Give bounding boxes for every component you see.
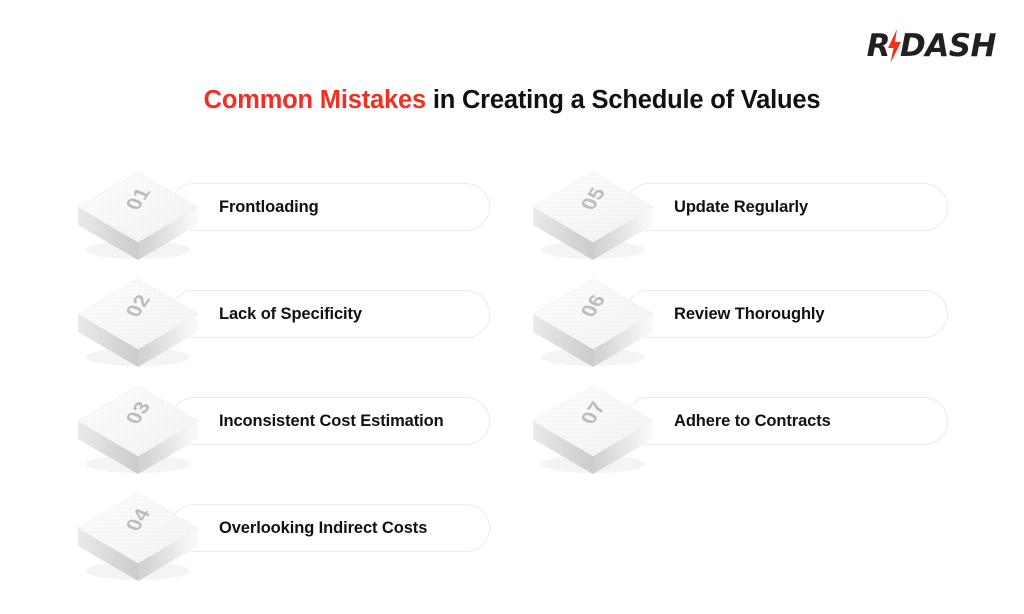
- item-label: Update Regularly: [674, 198, 808, 217]
- number-cube-icon: [529, 380, 659, 476]
- item-label: Frontloading: [219, 198, 319, 217]
- list-item[interactable]: Adhere to Contracts 07: [529, 380, 948, 487]
- number-cube-icon: [74, 380, 204, 476]
- page-title-rest: in Creating a Schedule of Values: [426, 86, 820, 114]
- list-item[interactable]: Lack of Specificity 02: [74, 273, 490, 380]
- item-pill[interactable]: Adhere to Contracts: [625, 397, 948, 445]
- number-cube-icon: [74, 487, 204, 583]
- item-pill[interactable]: Overlooking Indirect Costs: [170, 504, 490, 552]
- item-pill[interactable]: Update Regularly: [625, 183, 948, 231]
- item-pill[interactable]: Frontloading: [170, 183, 490, 231]
- number-cube-icon: [74, 273, 204, 369]
- item-label: Lack of Specificity: [219, 305, 362, 324]
- right-column: Update Regularly 05 Review Thoroughly: [529, 166, 948, 487]
- item-label: Inconsistent Cost Estimation: [219, 412, 444, 431]
- logo-text-dash: DASH: [900, 31, 996, 62]
- list-item[interactable]: Overlooking Indirect Costs 04: [74, 487, 490, 594]
- item-pill[interactable]: Lack of Specificity: [170, 290, 490, 338]
- mistakes-board: Frontloading: [0, 166, 1024, 596]
- number-cube-icon: [529, 166, 659, 262]
- item-pill[interactable]: Review Thoroughly: [625, 290, 948, 338]
- list-item[interactable]: Frontloading: [74, 166, 490, 273]
- list-item[interactable]: Inconsistent Cost Estimation 03: [74, 380, 490, 487]
- item-pill[interactable]: Inconsistent Cost Estimation: [170, 397, 490, 445]
- rdash-logo: R DASH: [867, 26, 996, 66]
- number-cube-icon: [74, 166, 204, 262]
- item-label: Overlooking Indirect Costs: [219, 519, 427, 538]
- number-cube-icon: [529, 273, 659, 369]
- left-column: Frontloading: [74, 166, 490, 594]
- item-label: Review Thoroughly: [674, 305, 824, 324]
- page-title: Common Mistakes in Creating a Schedule o…: [0, 86, 1024, 115]
- lightning-bolt-icon: [887, 29, 902, 63]
- page-title-accent: Common Mistakes: [204, 86, 426, 114]
- item-label: Adhere to Contracts: [674, 412, 831, 431]
- list-item[interactable]: Update Regularly 05: [529, 166, 948, 273]
- list-item[interactable]: Review Thoroughly 06: [529, 273, 948, 380]
